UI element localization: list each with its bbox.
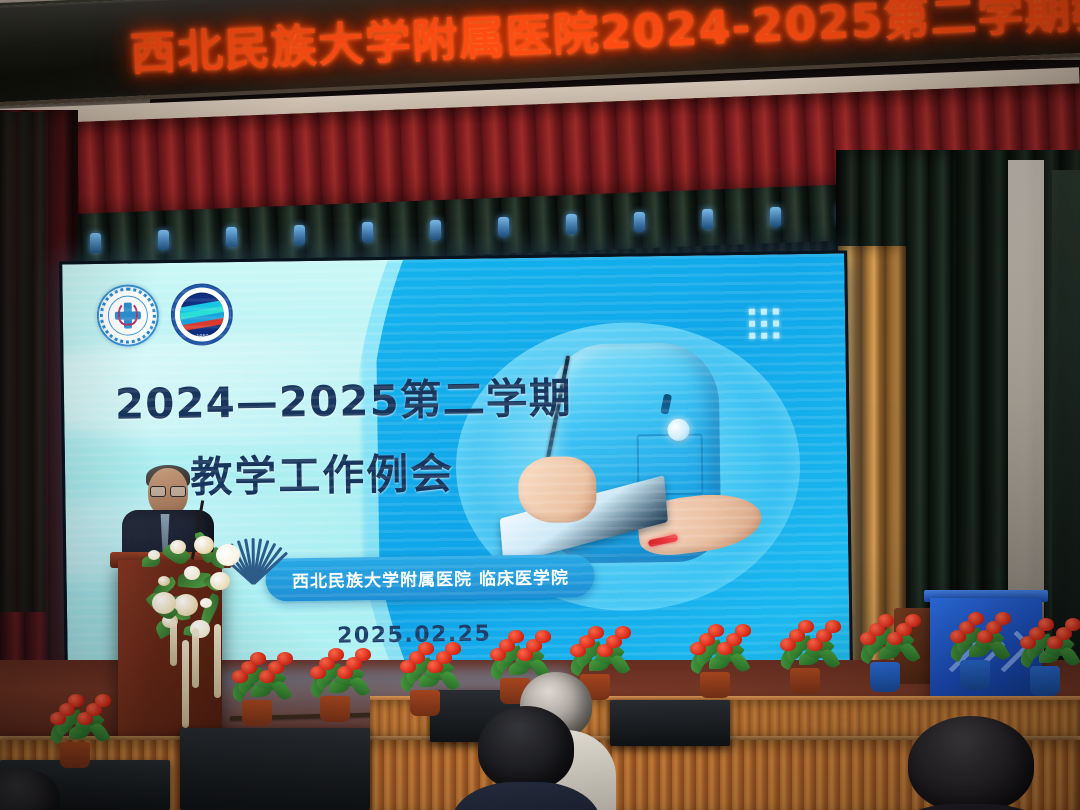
red-flower-bloom (798, 620, 814, 633)
flower-pot (410, 690, 440, 716)
hanging-flower-spray (214, 624, 221, 698)
red-flower-bloom (878, 614, 894, 627)
stage-light-clip (226, 227, 237, 247)
flower-bloom (148, 550, 160, 560)
hanging-flower-spray (182, 640, 189, 728)
hanging-flower-spray (192, 628, 199, 688)
red-flower-bloom (68, 694, 84, 707)
stage-light-clip (90, 233, 101, 253)
flower-bloom (170, 540, 186, 554)
stage-light-clip (362, 222, 373, 242)
stage-light-clip (634, 212, 645, 232)
red-flower-bloom (418, 642, 434, 655)
attendee-foreground-right-head (908, 716, 1034, 810)
stage-monitor-speaker (180, 728, 370, 810)
red-flower-bloom (277, 652, 293, 665)
red-flower-bloom (825, 620, 841, 633)
flower-bloom (194, 536, 214, 554)
flower-pot (60, 742, 90, 768)
flower-pot (870, 662, 900, 692)
flower-pot (960, 660, 990, 690)
red-flower-bloom (735, 624, 751, 637)
eyeglasses-icon (150, 486, 186, 495)
red-flower-bloom (95, 694, 111, 707)
flower-bloom (210, 572, 230, 590)
red-flower-bloom (995, 612, 1011, 625)
flower-bloom (184, 566, 200, 580)
stage-light-clip (294, 225, 305, 245)
red-flower-bloom (535, 630, 551, 643)
wall-strip-right-dark (1052, 170, 1080, 670)
red-flower-bloom (968, 612, 984, 625)
flower-bloom (158, 576, 170, 586)
photo-canvas: 西北民族大学附属医院2024-2025第二学期教学例会 (0, 0, 1080, 810)
red-flower-bloom (445, 642, 461, 655)
stage-light-clip (430, 220, 441, 240)
flower-pot (790, 668, 820, 694)
red-flower-bloom (1038, 618, 1054, 631)
attendee-dark-hair-head (478, 706, 574, 790)
flower-pot (320, 696, 350, 722)
stage-light-clip (498, 217, 509, 237)
red-flower-bloom (508, 630, 524, 643)
red-flower-bloom (905, 614, 921, 627)
flower-bloom (152, 592, 176, 614)
flower-pot (1030, 666, 1060, 696)
hanging-flower-spray (170, 620, 177, 666)
stage-light-clip (566, 214, 577, 234)
red-flower-bloom (250, 652, 266, 665)
stage-light-clip (770, 207, 781, 227)
curtain-left-dark (0, 112, 46, 612)
flower-bloom (200, 598, 212, 608)
flower-pot (242, 700, 272, 726)
stage-light-clip (158, 230, 169, 250)
red-flower-bloom (615, 626, 631, 639)
red-flower-bloom (708, 624, 724, 637)
stage-light-clip (702, 209, 713, 229)
red-flower-bloom (588, 626, 604, 639)
flower-bloom (216, 544, 240, 566)
red-flower-bloom (1065, 618, 1080, 631)
red-flower-bloom (328, 648, 344, 661)
desk-monitor (610, 700, 730, 746)
flower-pot (700, 672, 730, 698)
red-flower-bloom (355, 648, 371, 661)
